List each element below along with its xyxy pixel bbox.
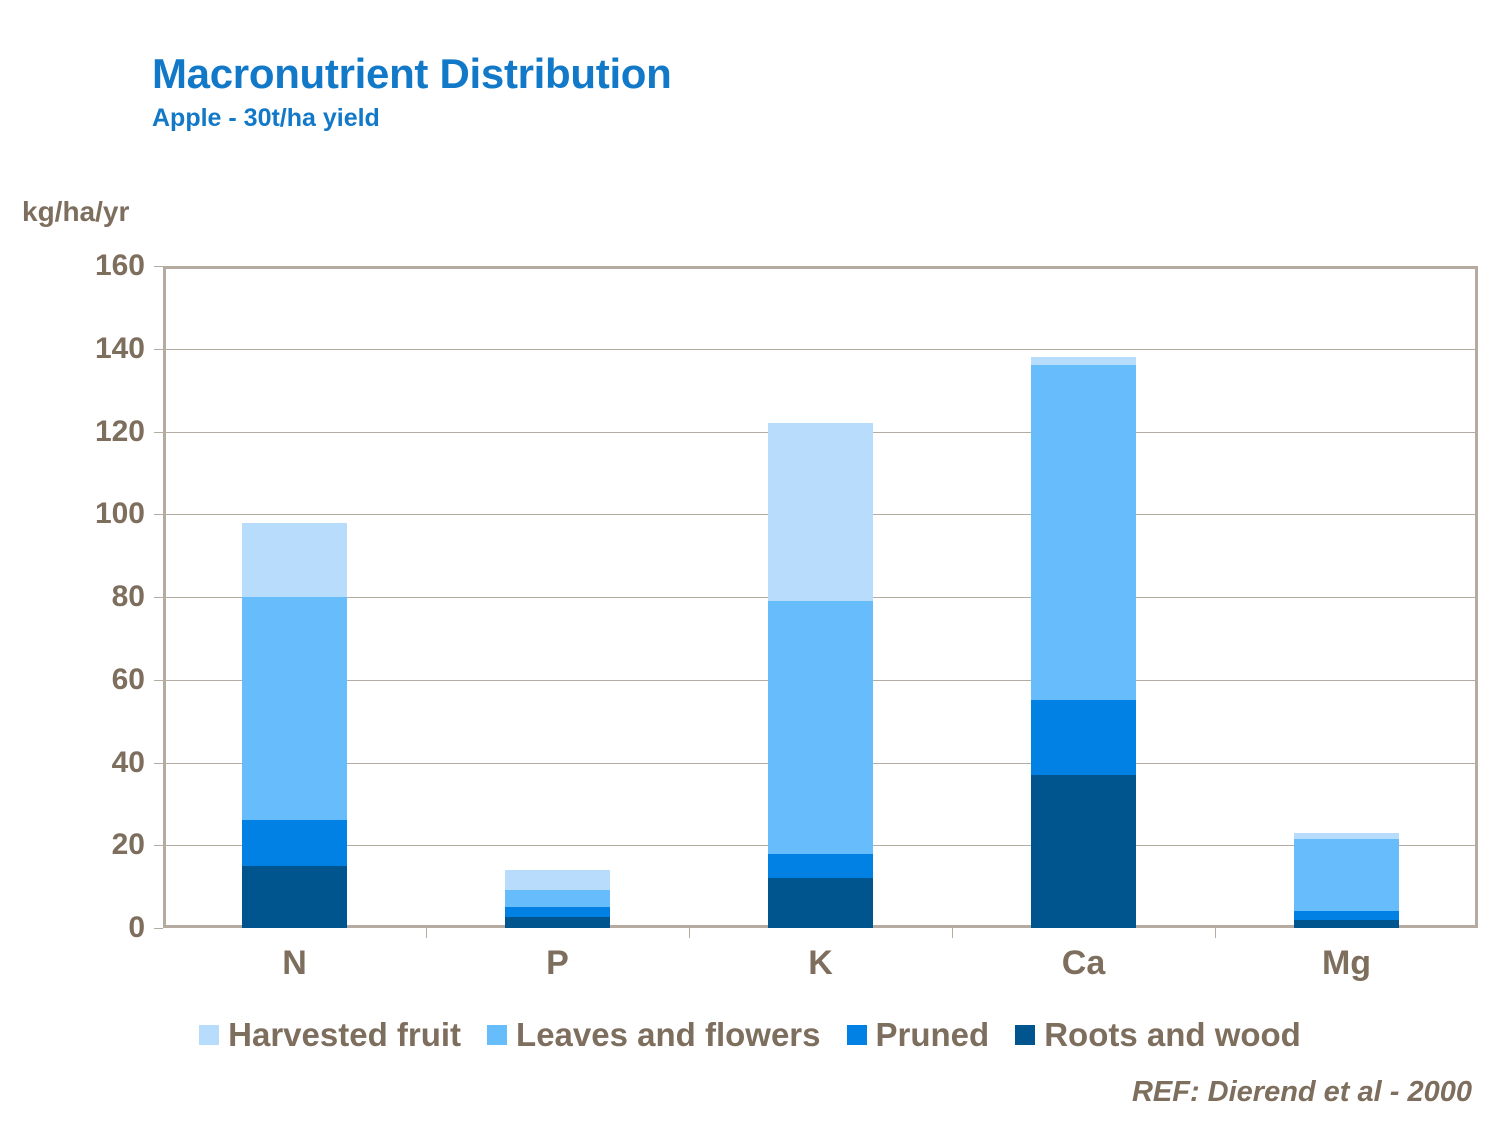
x-axis-label-ca: Ca (952, 944, 1215, 983)
x-axis-tick-mark (689, 928, 690, 938)
y-axis-tick-label: 60 (25, 663, 145, 697)
bar-segment-leaves-and-flowers[interactable] (1031, 365, 1136, 700)
y-axis-tick-mark (154, 266, 163, 267)
legend-swatch-icon (847, 1025, 867, 1045)
x-axis-label-k: K (689, 944, 952, 983)
x-axis-label-mg: Mg (1215, 944, 1478, 983)
legend-swatch-icon (199, 1025, 219, 1045)
bar-group-mg[interactable] (1294, 266, 1399, 928)
x-axis-label-n: N (163, 944, 426, 983)
legend-label: Roots and wood (1044, 1016, 1301, 1054)
y-axis-tick-mark (154, 928, 163, 929)
y-axis-tick-mark (154, 597, 163, 598)
bar-segment-harvested-fruit[interactable] (1031, 357, 1136, 365)
bar-group-p[interactable] (505, 266, 610, 928)
bar-stack (1031, 357, 1136, 928)
bar-segment-roots-and-wood[interactable] (242, 866, 347, 928)
bars-layer (163, 266, 1478, 928)
x-axis-tick-mark (426, 928, 427, 938)
y-axis-tick-label: 20 (25, 828, 145, 862)
bar-stack (1294, 833, 1399, 928)
x-axis-label-p: P (426, 944, 689, 983)
bar-segment-leaves-and-flowers[interactable] (768, 601, 873, 853)
y-axis-tick-mark (154, 763, 163, 764)
bar-stack (768, 423, 873, 928)
bar-segment-harvested-fruit[interactable] (505, 870, 610, 889)
bar-segment-leaves-and-flowers[interactable] (242, 597, 347, 820)
reference-note: REF: Dierend et al - 2000 (1132, 1076, 1472, 1109)
legend-item-pruned[interactable]: Pruned (847, 1016, 990, 1054)
y-axis-tick-mark (154, 349, 163, 350)
bar-segment-pruned[interactable] (1294, 911, 1399, 919)
bar-segment-harvested-fruit[interactable] (242, 523, 347, 597)
bar-segment-roots-and-wood[interactable] (768, 878, 873, 928)
bar-segment-harvested-fruit[interactable] (768, 423, 873, 601)
y-axis-tick-mark (154, 845, 163, 846)
bar-group-n[interactable] (242, 266, 347, 928)
bar-group-ca[interactable] (1031, 266, 1136, 928)
bar-segment-roots-and-wood[interactable] (505, 917, 610, 928)
chart-canvas: 020406080100120140160 NPKCaMg (0, 0, 1500, 1125)
y-axis-tick-mark (154, 680, 163, 681)
bar-group-k[interactable] (768, 266, 873, 928)
bar-segment-pruned[interactable] (505, 907, 610, 917)
legend-item-leaves-and-flowers[interactable]: Leaves and flowers (487, 1016, 820, 1054)
bar-segment-roots-and-wood[interactable] (1031, 775, 1136, 928)
y-axis-tick-label: 100 (25, 497, 145, 531)
y-axis-tick-label: 80 (25, 580, 145, 614)
bar-segment-pruned[interactable] (1031, 700, 1136, 774)
x-axis-labels: NPKCaMg (163, 944, 1478, 994)
legend-item-harvested-fruit[interactable]: Harvested fruit (199, 1016, 461, 1054)
y-axis-tick-mark (154, 514, 163, 515)
bar-stack (505, 870, 610, 928)
legend-label: Leaves and flowers (516, 1016, 820, 1054)
y-axis-tick-label: 40 (25, 746, 145, 780)
legend-item-roots-and-wood[interactable]: Roots and wood (1015, 1016, 1301, 1054)
legend-label: Harvested fruit (228, 1016, 461, 1054)
y-axis-tick-label: 160 (25, 249, 145, 283)
legend-label: Pruned (876, 1016, 990, 1054)
y-axis-tick-label: 120 (25, 415, 145, 449)
chart-legend: Harvested fruitLeaves and flowersPrunedR… (0, 1016, 1500, 1054)
x-axis-tick-mark (1215, 928, 1216, 938)
y-axis-tick-label: 0 (25, 911, 145, 945)
bar-segment-roots-and-wood[interactable] (1294, 920, 1399, 928)
y-axis-tick-label: 140 (25, 332, 145, 366)
y-axis-tick-mark (154, 432, 163, 433)
bar-segment-pruned[interactable] (242, 820, 347, 866)
bar-stack (242, 523, 347, 928)
legend-swatch-icon (1015, 1025, 1035, 1045)
bar-segment-pruned[interactable] (768, 854, 873, 879)
bar-segment-leaves-and-flowers[interactable] (1294, 839, 1399, 911)
legend-swatch-icon (487, 1025, 507, 1045)
bar-segment-leaves-and-flowers[interactable] (505, 890, 610, 908)
x-axis-tick-mark (952, 928, 953, 938)
